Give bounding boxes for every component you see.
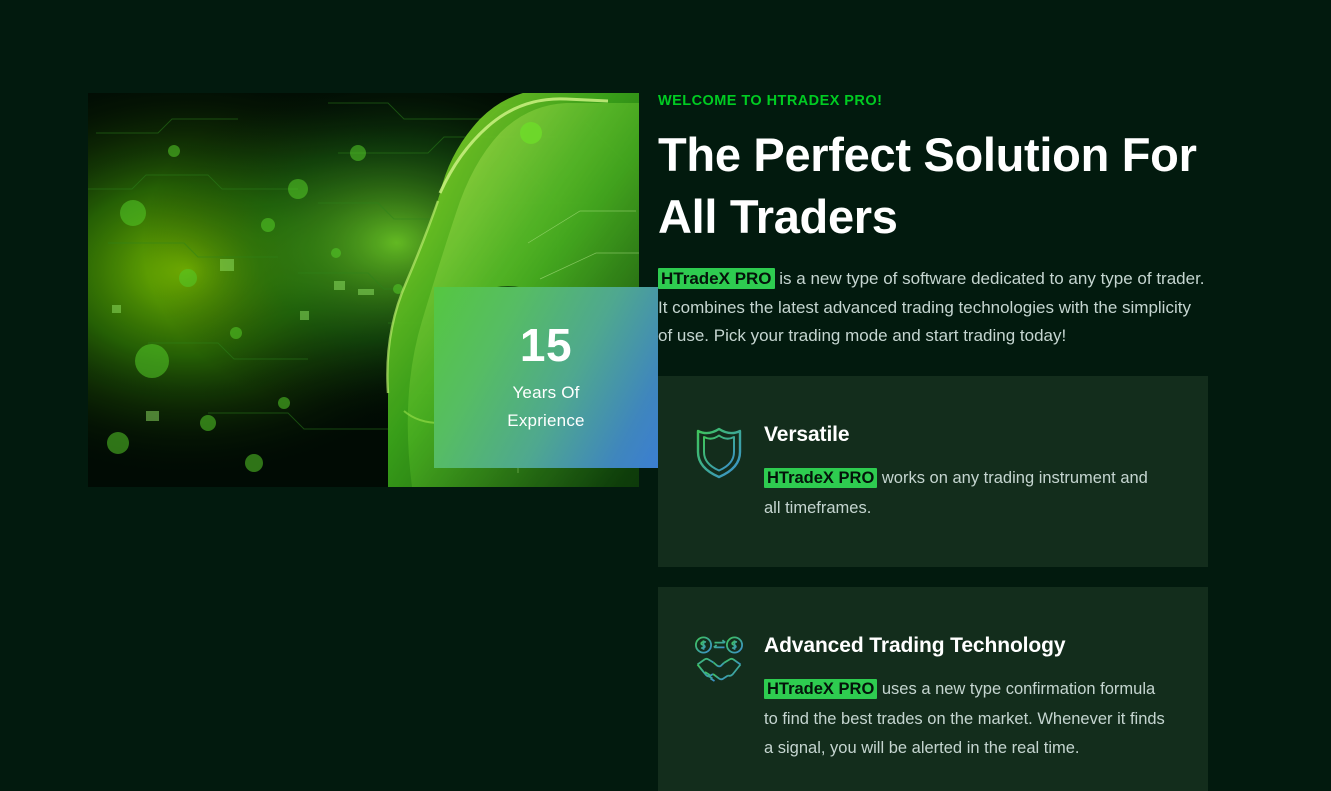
years-count: 15	[520, 321, 572, 369]
page-root: 15 Years Of Exprience WELCOME TO HTRADEX…	[0, 0, 1331, 791]
feature-text: HTradeX PRO works on any trading instrum…	[764, 464, 1168, 523]
feature-card-versatile: Versatile HTradeX PRO works on any tradi…	[658, 376, 1208, 567]
intro-paragraph: HTradeX PRO is a new type of software de…	[658, 265, 1208, 349]
intro-content-column: WELCOME TO HTRADEX PRO! The Perfect Solu…	[658, 93, 1208, 350]
years-label-line2: Exprience	[507, 407, 584, 435]
brand-tag: HTradeX PRO	[764, 468, 877, 488]
shield-icon	[694, 420, 744, 476]
feature-card-list: Versatile HTradeX PRO works on any tradi…	[658, 376, 1208, 791]
brand-tag: HTradeX PRO	[764, 679, 877, 699]
page-title: The Perfect Solution For All Traders	[658, 124, 1208, 248]
years-label-line1: Years Of	[512, 379, 579, 407]
hero-visual-column: 15 Years Of Exprience	[88, 93, 639, 487]
brand-tag: HTradeX PRO	[658, 268, 775, 289]
feature-text: HTradeX PRO uses a new type confirmation…	[764, 675, 1168, 763]
years-experience-badge: 15 Years Of Exprience	[434, 287, 658, 468]
money-exchange-handshake-icon	[694, 631, 744, 687]
feature-title: Advanced Trading Technology	[764, 633, 1168, 659]
feature-title: Versatile	[764, 422, 1168, 448]
feature-card-advanced-trading-technology: Advanced Trading Technology HTradeX PRO …	[658, 587, 1208, 791]
welcome-eyebrow: WELCOME TO HTRADEX PRO!	[658, 93, 1208, 110]
